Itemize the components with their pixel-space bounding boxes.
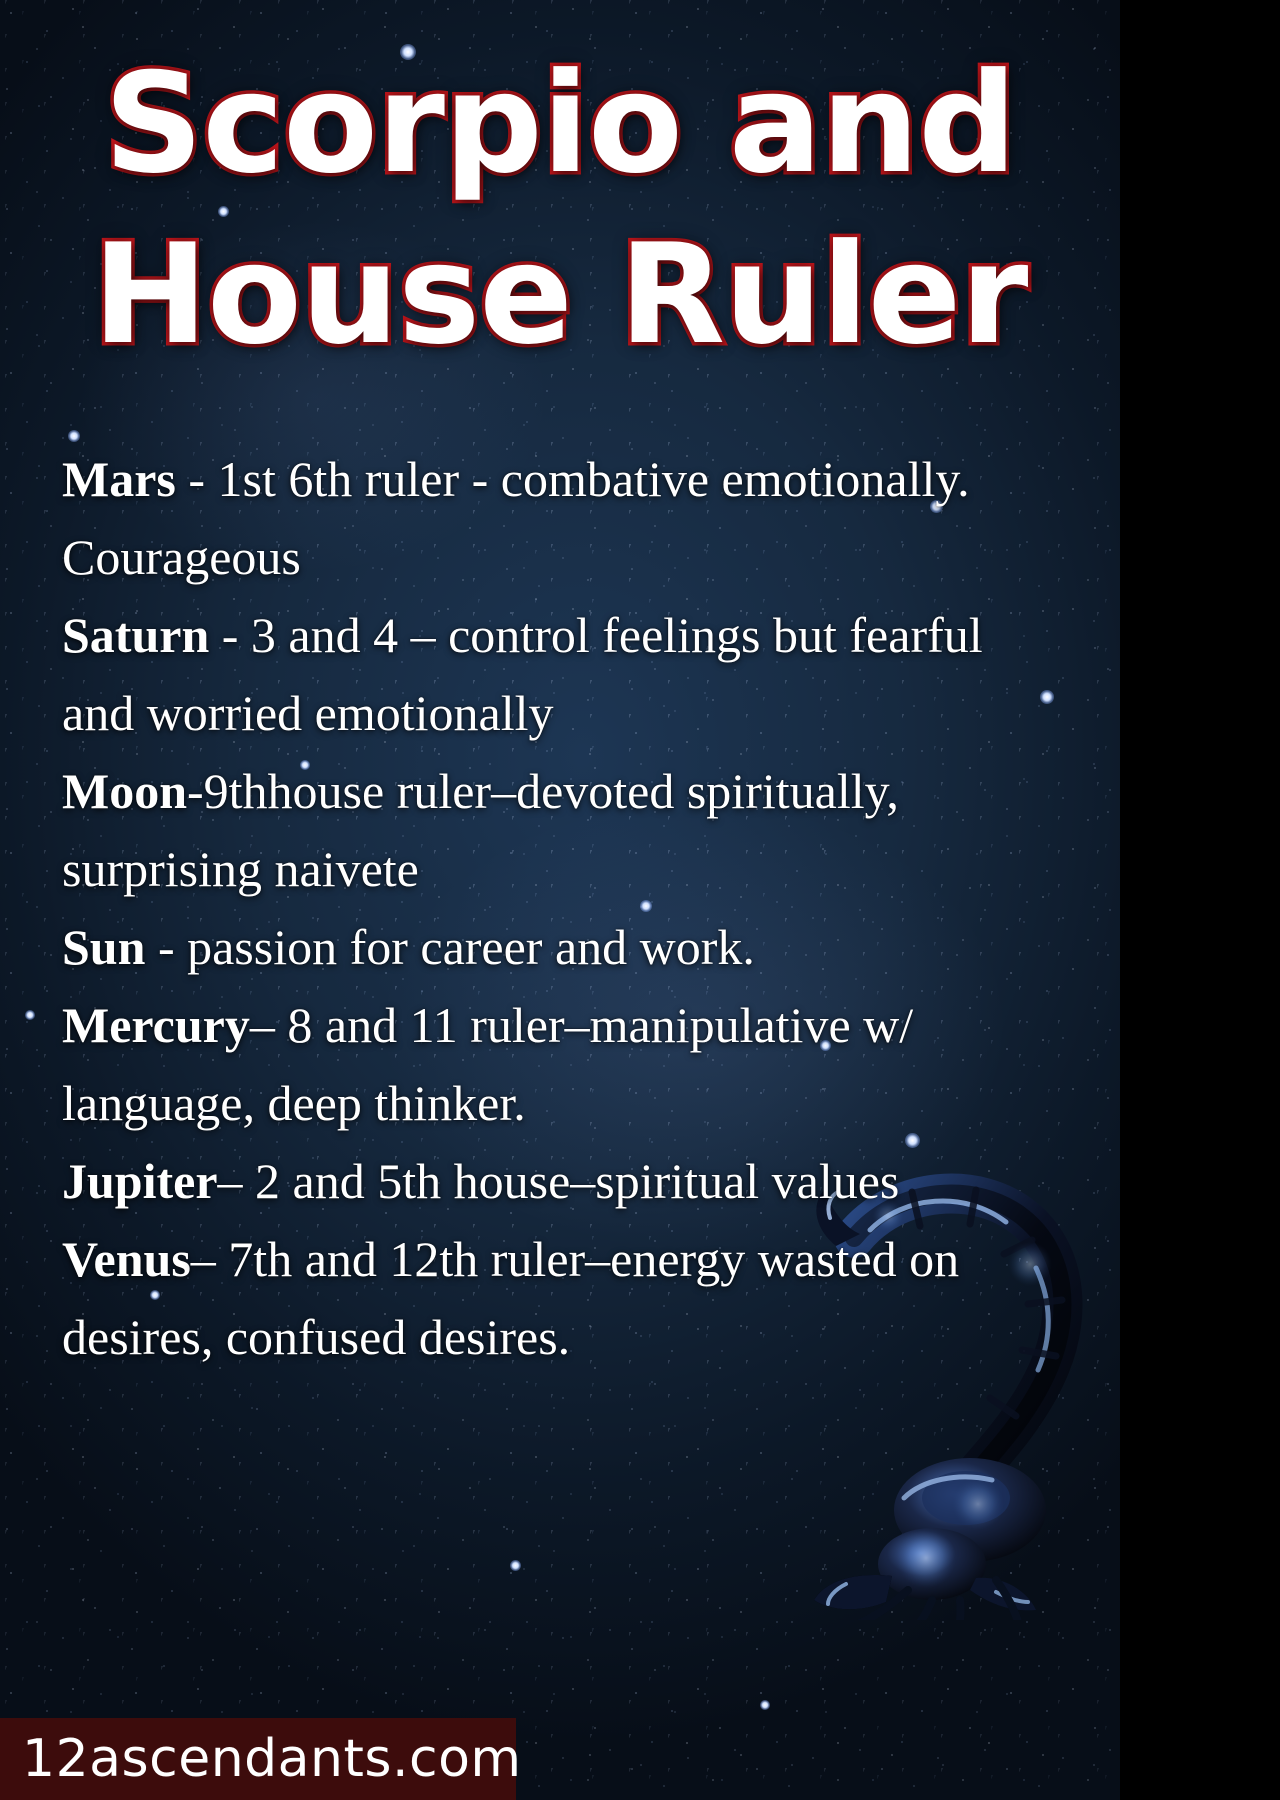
planet-name-moon: Moon xyxy=(62,763,187,819)
planet-name-venus: Venus xyxy=(62,1231,191,1287)
title-line-2: House Ruler xyxy=(0,209,1120,380)
planet-name-mars: Mars xyxy=(62,451,176,507)
planet-description-moon: -9thhouse ruler–devoted spiritually, sur… xyxy=(62,763,899,897)
footer-bar: 12ascendants.com xyxy=(0,1718,516,1800)
planet-description-sun: - passion for career and work. xyxy=(145,919,754,975)
list-item: Moon-9thhouse ruler–devoted spiritually,… xyxy=(62,752,1062,908)
list-item: Mars - 1st 6th ruler - combative emotion… xyxy=(62,440,1062,596)
planet-name-jupiter: Jupiter xyxy=(62,1153,218,1209)
planet-name-saturn: Saturn xyxy=(62,607,209,663)
poster-canvas: Scorpio and House Ruler Mars - 1st 6th r… xyxy=(0,0,1120,1800)
site-url-label: 12ascendants.com xyxy=(0,1733,522,1785)
planet-description-venus: – 7th and 12th ruler–energy wasted on de… xyxy=(62,1231,959,1365)
ruler-list: Mars - 1st 6th ruler - combative emotion… xyxy=(62,440,1062,1376)
list-item: Venus– 7th and 12th ruler–energy wasted … xyxy=(62,1220,1062,1376)
list-item: Jupiter– 2 and 5th house–spiritual value… xyxy=(62,1142,1062,1220)
planet-name-mercury: Mercury xyxy=(62,997,250,1053)
poster-title: Scorpio and House Ruler xyxy=(0,38,1120,380)
list-item: Saturn - 3 and 4 – control feelings but … xyxy=(62,596,1062,752)
list-item: Mercury– 8 and 11 ruler–manipulative w/ … xyxy=(62,986,1062,1142)
list-item: Sun - passion for career and work. xyxy=(62,908,1062,986)
planet-description-mars: - 1st 6th ruler - combative emotionally.… xyxy=(62,451,970,585)
planet-description-jupiter: – 2 and 5th house–spiritual values xyxy=(218,1153,900,1209)
title-line-1: Scorpio and xyxy=(0,38,1120,209)
planet-name-sun: Sun xyxy=(62,919,145,975)
